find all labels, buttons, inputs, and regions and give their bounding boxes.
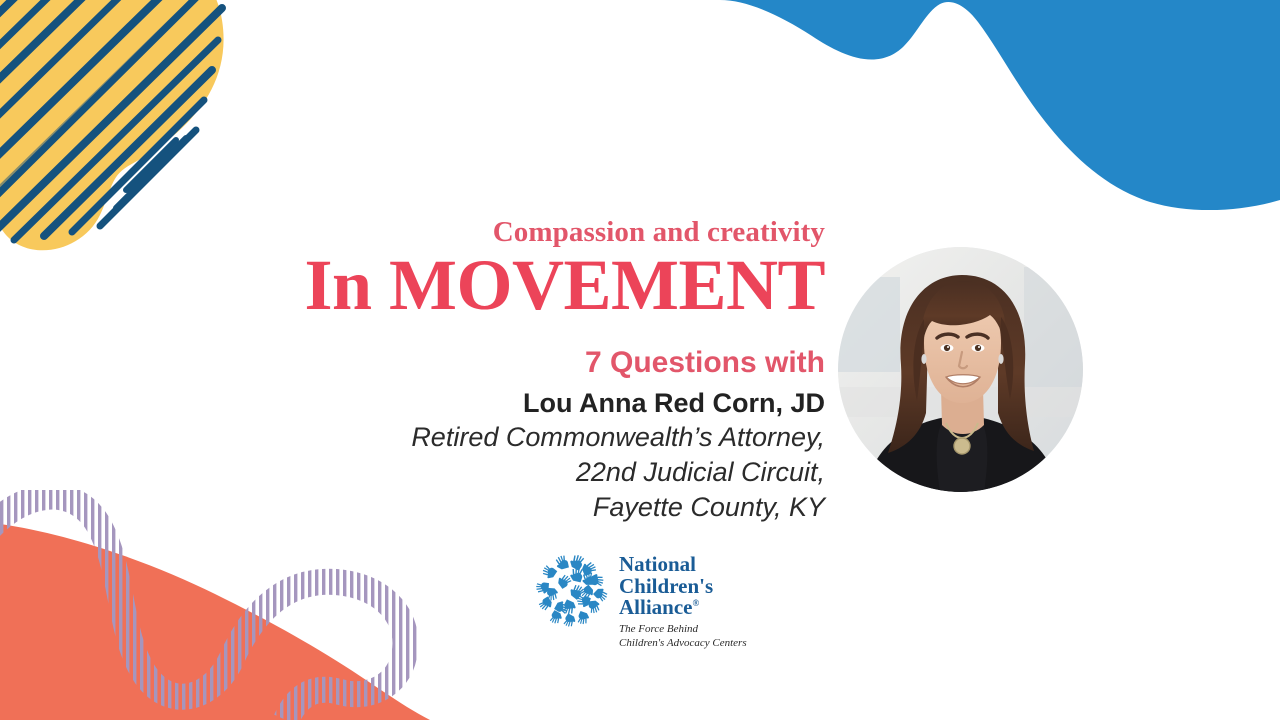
headshot-portrait-icon <box>838 247 1083 492</box>
logo-line-national: National <box>619 554 747 576</box>
logo-line-childrens: Children's <box>619 576 747 598</box>
hand-cluster <box>535 553 609 627</box>
person-title-line-1: Retired Commonwealth’s Attorney, <box>200 420 825 455</box>
person-title-line-3: Fayette County, KY <box>200 490 825 525</box>
logo-tagline-line-2: Children's Advocacy Centers <box>619 637 747 651</box>
slide-canvas: Compassion and creativity In MOVEMENT 7 … <box>0 0 1280 720</box>
questions-label: 7 Questions with <box>200 346 825 379</box>
logo-wordmark: National Children's Alliance® The Force … <box>619 551 747 650</box>
avatar <box>838 247 1083 492</box>
logo-tagline-line-1: The Force Behind <box>619 623 747 637</box>
hands-circle-icon <box>533 551 613 631</box>
page-title: In MOVEMENT <box>200 251 825 320</box>
person-title: Retired Commonwealth’s Attorney, 22nd Ju… <box>200 420 825 525</box>
content-layer: Compassion and creativity In MOVEMENT 7 … <box>0 0 1280 720</box>
kicker-line: Compassion and creativity <box>200 218 825 247</box>
registered-mark-icon: ® <box>693 598 700 608</box>
logo-alliance-text: Alliance <box>619 595 693 619</box>
logo-tagline: The Force Behind Children's Advocacy Cen… <box>619 623 747 651</box>
organization-logo: National Children's Alliance® The Force … <box>533 551 743 643</box>
person-name: Lou Anna Red Corn, JD <box>200 388 825 419</box>
title-text-block: Compassion and creativity In MOVEMENT 7 … <box>200 218 825 525</box>
person-title-line-2: 22nd Judicial Circuit, <box>200 455 825 490</box>
logo-line-alliance: Alliance® <box>619 597 747 619</box>
